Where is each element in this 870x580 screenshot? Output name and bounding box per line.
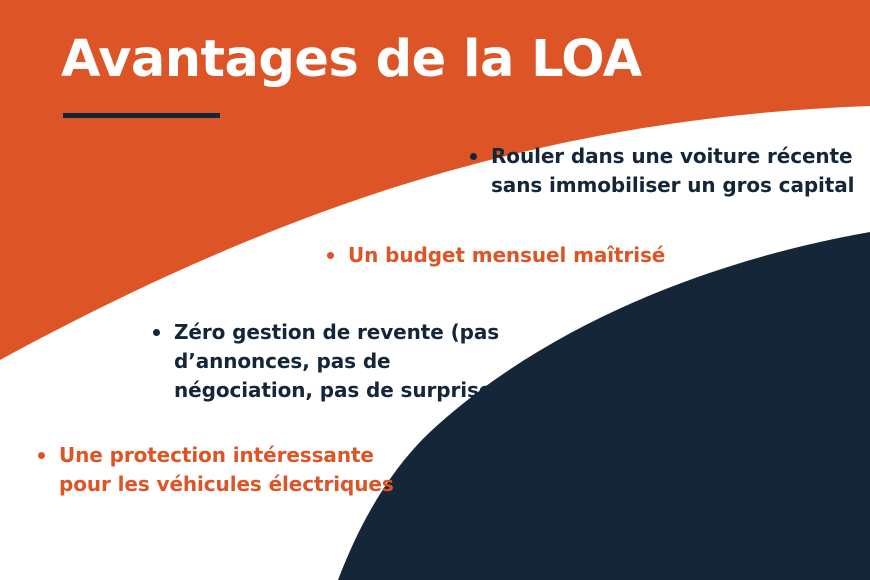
- list-item: Un budget mensuel maîtrisé: [327, 241, 687, 270]
- page-title: Avantages de la LOA: [61, 33, 642, 87]
- list-item-label: Zéro gestion de revente (pas d’annonces,…: [174, 318, 501, 405]
- content-layer: Avantages de la LOA Rouler dans une voit…: [0, 0, 870, 580]
- list-item: Rouler dans une voiture récente sans imm…: [470, 142, 870, 200]
- list-item-label: Un budget mensuel maîtrisé: [348, 241, 665, 270]
- slide-canvas: Avantages de la LOA Rouler dans une voit…: [0, 0, 870, 580]
- title-underline: [63, 113, 220, 118]
- list-item: Zéro gestion de revente (pas d’annonces,…: [153, 318, 513, 405]
- bullet-dot-icon: [327, 252, 334, 259]
- list-item: Une protection intéressante pour les véh…: [38, 441, 418, 499]
- list-item-label: Une protection intéressante pour les véh…: [59, 441, 394, 499]
- list-item-label: Rouler dans une voiture récente sans imm…: [491, 142, 854, 200]
- bullet-dot-icon: [470, 153, 477, 160]
- bullet-dot-icon: [153, 329, 160, 336]
- bullet-dot-icon: [38, 452, 45, 459]
